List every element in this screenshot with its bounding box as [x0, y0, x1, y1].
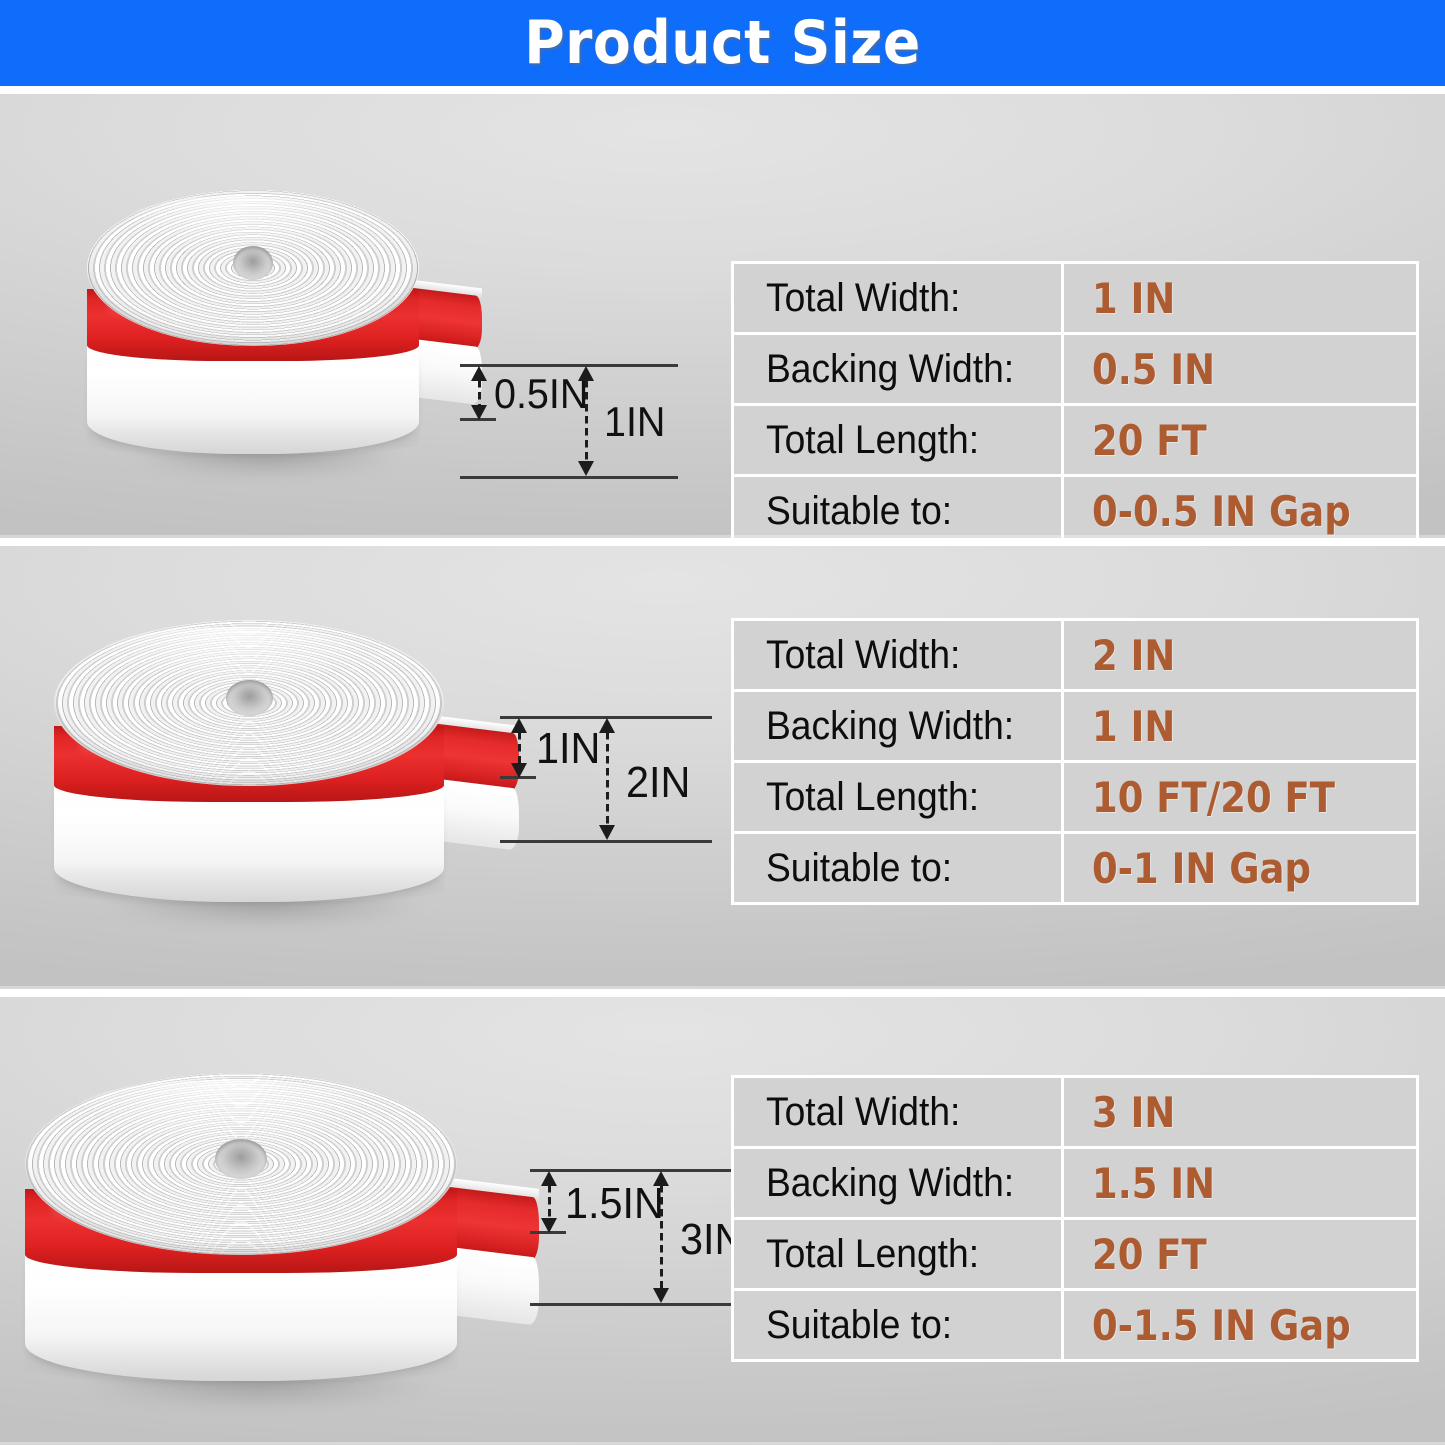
tape-roll-image-2 — [44, 620, 514, 940]
spec-label-backing-width: Backing Width: — [734, 692, 1061, 760]
tape-coil-face — [87, 190, 419, 346]
arrow-head-up — [541, 1171, 557, 1186]
spec-value-suitable-to: 0-0.5 IN Gap — [1064, 477, 1416, 538]
table-row: Total Length: 20 FT — [734, 406, 1416, 474]
page-title: Product Size — [524, 13, 921, 73]
dimension-arrow-total — [606, 718, 609, 840]
spec-label-suitable-to: Suitable to: — [734, 477, 1061, 538]
spec-value-total-width: 3 IN — [1064, 1078, 1416, 1146]
spec-value-suitable-to: 0-1 IN Gap — [1064, 834, 1416, 902]
spec-value-backing-width: 1 IN — [1064, 692, 1416, 760]
tape-white-band — [87, 346, 419, 454]
spec-label-total-width: Total Width: — [734, 1078, 1061, 1146]
arrow-head-up — [511, 718, 527, 733]
spec-value-backing-width: 1.5 IN — [1064, 1149, 1416, 1217]
spec-value-backing-width: 0.5 IN — [1064, 335, 1416, 403]
spec-table-2: Total Width: 2 IN Backing Width: 1 IN To… — [731, 618, 1419, 905]
table-row: Total Length: 10 FT/20 FT — [734, 763, 1416, 831]
table-row: Suitable to: 0-1.5 IN Gap — [734, 1291, 1416, 1359]
arrow-head-up — [471, 366, 487, 381]
spec-value-total-width: 1 IN — [1064, 264, 1416, 332]
table-row: Backing Width: 1 IN — [734, 692, 1416, 760]
dimension-dashed-line — [606, 732, 609, 826]
dimension-arrow-backing — [478, 366, 481, 420]
dimension-arrow-total — [660, 1171, 663, 1303]
arrow-head-down — [599, 825, 615, 840]
table-row: Total Length: 20 FT — [734, 1220, 1416, 1288]
arrow-head-up — [599, 718, 615, 733]
dimension-dashed-line — [478, 380, 481, 406]
dimension-arrow-total — [585, 366, 588, 476]
spec-value-total-length: 20 FT — [1064, 1220, 1416, 1288]
table-row: Total Width: 2 IN — [734, 621, 1416, 689]
header-banner: Product Size — [0, 0, 1445, 86]
spec-label-backing-width: Backing Width: — [734, 1149, 1061, 1217]
product-panel-1: 0.5IN 1IN Total Width: 1 IN Backing Widt… — [0, 94, 1445, 538]
tape-coil-face — [25, 1073, 457, 1255]
table-row: Backing Width: 0.5 IN — [734, 335, 1416, 403]
table-row: Total Width: 1 IN — [734, 264, 1416, 332]
dimension-dashed-line — [585, 380, 588, 462]
spec-label-backing-width: Backing Width: — [734, 335, 1061, 403]
spec-label-total-length: Total Length: — [734, 763, 1061, 831]
tape-roll-image-1 — [78, 190, 478, 490]
spec-value-total-length: 20 FT — [1064, 406, 1416, 474]
arrow-head-up — [578, 366, 594, 381]
arrow-head-down — [578, 461, 594, 476]
product-panel-2: 1IN 2IN Total Width: 2 IN Backing Width:… — [0, 546, 1445, 989]
dimension-annotation-1: 0.5IN 1IN — [438, 364, 678, 484]
spec-value-suitable-to: 0-1.5 IN Gap — [1064, 1291, 1416, 1359]
dimension-label-total: 2IN — [626, 758, 690, 808]
extension-line-bottom — [460, 476, 678, 479]
tape-roll-image-3 — [14, 1073, 534, 1423]
table-row: Suitable to: 0-0.5 IN Gap — [734, 477, 1416, 538]
dimension-label-total: 1IN — [604, 398, 665, 446]
extension-line-top — [530, 1169, 738, 1172]
product-panel-3: 1.5IN 3IN Total Width: 3 IN Backing Widt… — [0, 997, 1445, 1445]
tape-white-band — [54, 786, 444, 901]
dimension-label-backing: 1.5IN — [565, 1179, 664, 1229]
product-size-infographic: Product Size — [0, 0, 1445, 1445]
arrow-head-down — [653, 1288, 669, 1303]
arrow-head-down — [541, 1218, 557, 1233]
arrow-head-up — [653, 1171, 669, 1186]
dimension-dashed-line — [518, 732, 521, 764]
dimension-annotation-2: 1IN 2IN — [478, 716, 728, 846]
spec-label-suitable-to: Suitable to: — [734, 834, 1061, 902]
dimension-label-backing: 0.5IN — [494, 370, 588, 418]
arrow-head-down — [511, 763, 527, 778]
table-row: Suitable to: 0-1 IN Gap — [734, 834, 1416, 902]
extension-line-top — [460, 364, 678, 367]
arrow-head-down — [471, 405, 487, 420]
dimension-dashed-line — [660, 1185, 663, 1289]
dimension-arrow-backing — [548, 1171, 551, 1233]
spec-value-total-width: 2 IN — [1064, 621, 1416, 689]
dimension-label-backing: 1IN — [536, 724, 600, 774]
spec-table-3: Total Width: 3 IN Backing Width: 1.5 IN … — [731, 1075, 1419, 1362]
tape-white-band — [25, 1255, 457, 1381]
table-row: Backing Width: 1.5 IN — [734, 1149, 1416, 1217]
spec-value-total-length: 10 FT/20 FT — [1064, 763, 1416, 831]
table-row: Total Width: 3 IN — [734, 1078, 1416, 1146]
dimension-annotation-3: 1.5IN 3IN — [508, 1169, 758, 1309]
spec-label-suitable-to: Suitable to: — [734, 1291, 1061, 1359]
dimension-dashed-line — [548, 1185, 551, 1219]
tape-coil-face — [54, 620, 444, 786]
spec-label-total-length: Total Length: — [734, 406, 1061, 474]
extension-line-bottom — [530, 1303, 738, 1306]
spec-table-1: Total Width: 1 IN Backing Width: 0.5 IN … — [731, 261, 1419, 538]
spec-label-total-length: Total Length: — [734, 1220, 1061, 1288]
dimension-arrow-backing — [518, 718, 521, 778]
spec-label-total-width: Total Width: — [734, 264, 1061, 332]
extension-line-bottom — [500, 840, 712, 843]
spec-label-total-width: Total Width: — [734, 621, 1061, 689]
